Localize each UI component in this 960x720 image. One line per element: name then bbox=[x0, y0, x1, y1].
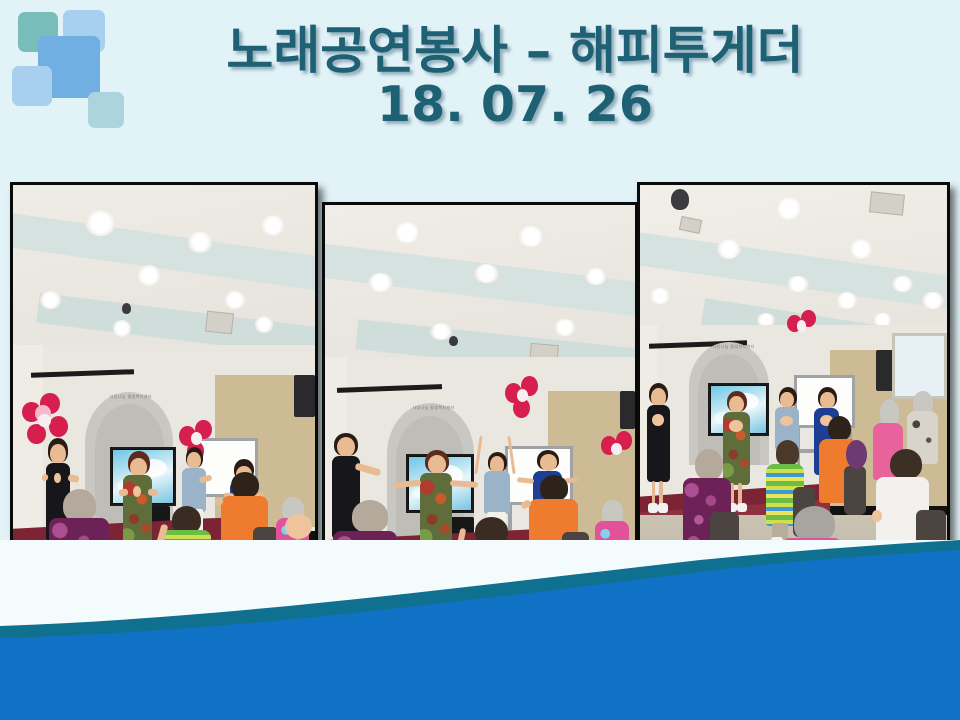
balloon-icon bbox=[797, 320, 807, 331]
downlight-icon bbox=[188, 231, 212, 252]
arm bbox=[147, 488, 158, 496]
hands-on-chest bbox=[729, 420, 743, 432]
raised-arm bbox=[507, 436, 515, 474]
balloon-cluster-right bbox=[601, 429, 635, 471]
slide-title: 노래공연봉사 – 해피투게더 bbox=[120, 26, 910, 78]
bottom-wave-decoration bbox=[0, 540, 960, 720]
downlight-icon bbox=[892, 276, 913, 292]
camera-dome-icon bbox=[122, 303, 131, 314]
hair bbox=[231, 472, 259, 498]
downlight-icon bbox=[649, 288, 670, 304]
hair bbox=[890, 449, 922, 480]
gray-hair bbox=[794, 506, 835, 542]
hand bbox=[54, 473, 60, 483]
downlight-icon bbox=[113, 320, 131, 337]
downlight-icon bbox=[787, 276, 808, 292]
head bbox=[651, 388, 666, 406]
balloon-icon bbox=[611, 443, 622, 455]
downlight-icon bbox=[85, 210, 115, 235]
ceiling-vent-icon bbox=[205, 310, 234, 334]
hair bbox=[352, 500, 388, 533]
downlight-icon bbox=[922, 292, 943, 308]
sandal bbox=[648, 503, 657, 513]
downlight-icon bbox=[393, 222, 421, 243]
wave-svg bbox=[0, 540, 960, 720]
balloon-icon bbox=[191, 432, 202, 445]
wall-sign: 사랑나눔 평생복지센터 bbox=[399, 405, 467, 411]
window-panel bbox=[892, 333, 947, 399]
ceiling-vent-icon bbox=[869, 192, 905, 216]
hair bbox=[695, 449, 723, 481]
wall-sign: 사랑나눔 평생복지센터 bbox=[98, 394, 164, 400]
square-light-blue-2-icon bbox=[12, 66, 52, 106]
head bbox=[540, 454, 557, 471]
raised-arm bbox=[474, 436, 482, 474]
hair bbox=[828, 416, 851, 441]
hair bbox=[540, 475, 569, 501]
speaker-icon bbox=[620, 391, 636, 429]
downlight-icon bbox=[261, 215, 285, 236]
wall-sign: 사랑나눔 평생복지센터 bbox=[701, 344, 765, 350]
hair bbox=[63, 489, 96, 522]
photo-3[interactable]: 사랑나눔 평생복지센터 bbox=[637, 182, 950, 600]
balloon-icon bbox=[49, 416, 68, 437]
head bbox=[820, 392, 835, 409]
downlight-icon bbox=[368, 273, 393, 292]
purple-scarf bbox=[846, 440, 867, 469]
head bbox=[130, 458, 146, 477]
performer-1 bbox=[640, 383, 680, 523]
photo-3-scene: 사랑나눔 평생복지센터 bbox=[640, 185, 947, 597]
balloon-cluster-top bbox=[787, 309, 818, 346]
slide-date: 18. 07. 26 bbox=[120, 80, 910, 130]
presentation-slide: 노래공연봉사 – 해피투게더 18. 07. 26 사랑나눔 평생 bbox=[0, 0, 960, 720]
downlight-icon bbox=[775, 197, 803, 220]
downlight-icon bbox=[255, 316, 273, 333]
sandal bbox=[658, 503, 667, 513]
head bbox=[428, 455, 446, 474]
camera-dome-icon bbox=[671, 189, 689, 210]
downlight-icon bbox=[554, 319, 576, 336]
denim-top bbox=[484, 471, 510, 514]
head bbox=[50, 444, 65, 464]
balloon-cluster-top bbox=[505, 374, 542, 420]
audience-member-9 bbox=[843, 440, 874, 481]
hand bbox=[133, 486, 141, 497]
hand bbox=[872, 510, 882, 521]
downlight-icon bbox=[836, 292, 857, 308]
downlight-icon bbox=[474, 264, 499, 283]
speaker-icon bbox=[294, 375, 315, 417]
square-pale-cyan-icon bbox=[88, 92, 124, 128]
slide-title-block: 노래공연봉사 – 해피투게더 18. 07. 26 bbox=[120, 26, 910, 130]
hair bbox=[776, 440, 799, 465]
balloon-icon bbox=[517, 389, 528, 402]
downlight-icon bbox=[224, 291, 245, 310]
